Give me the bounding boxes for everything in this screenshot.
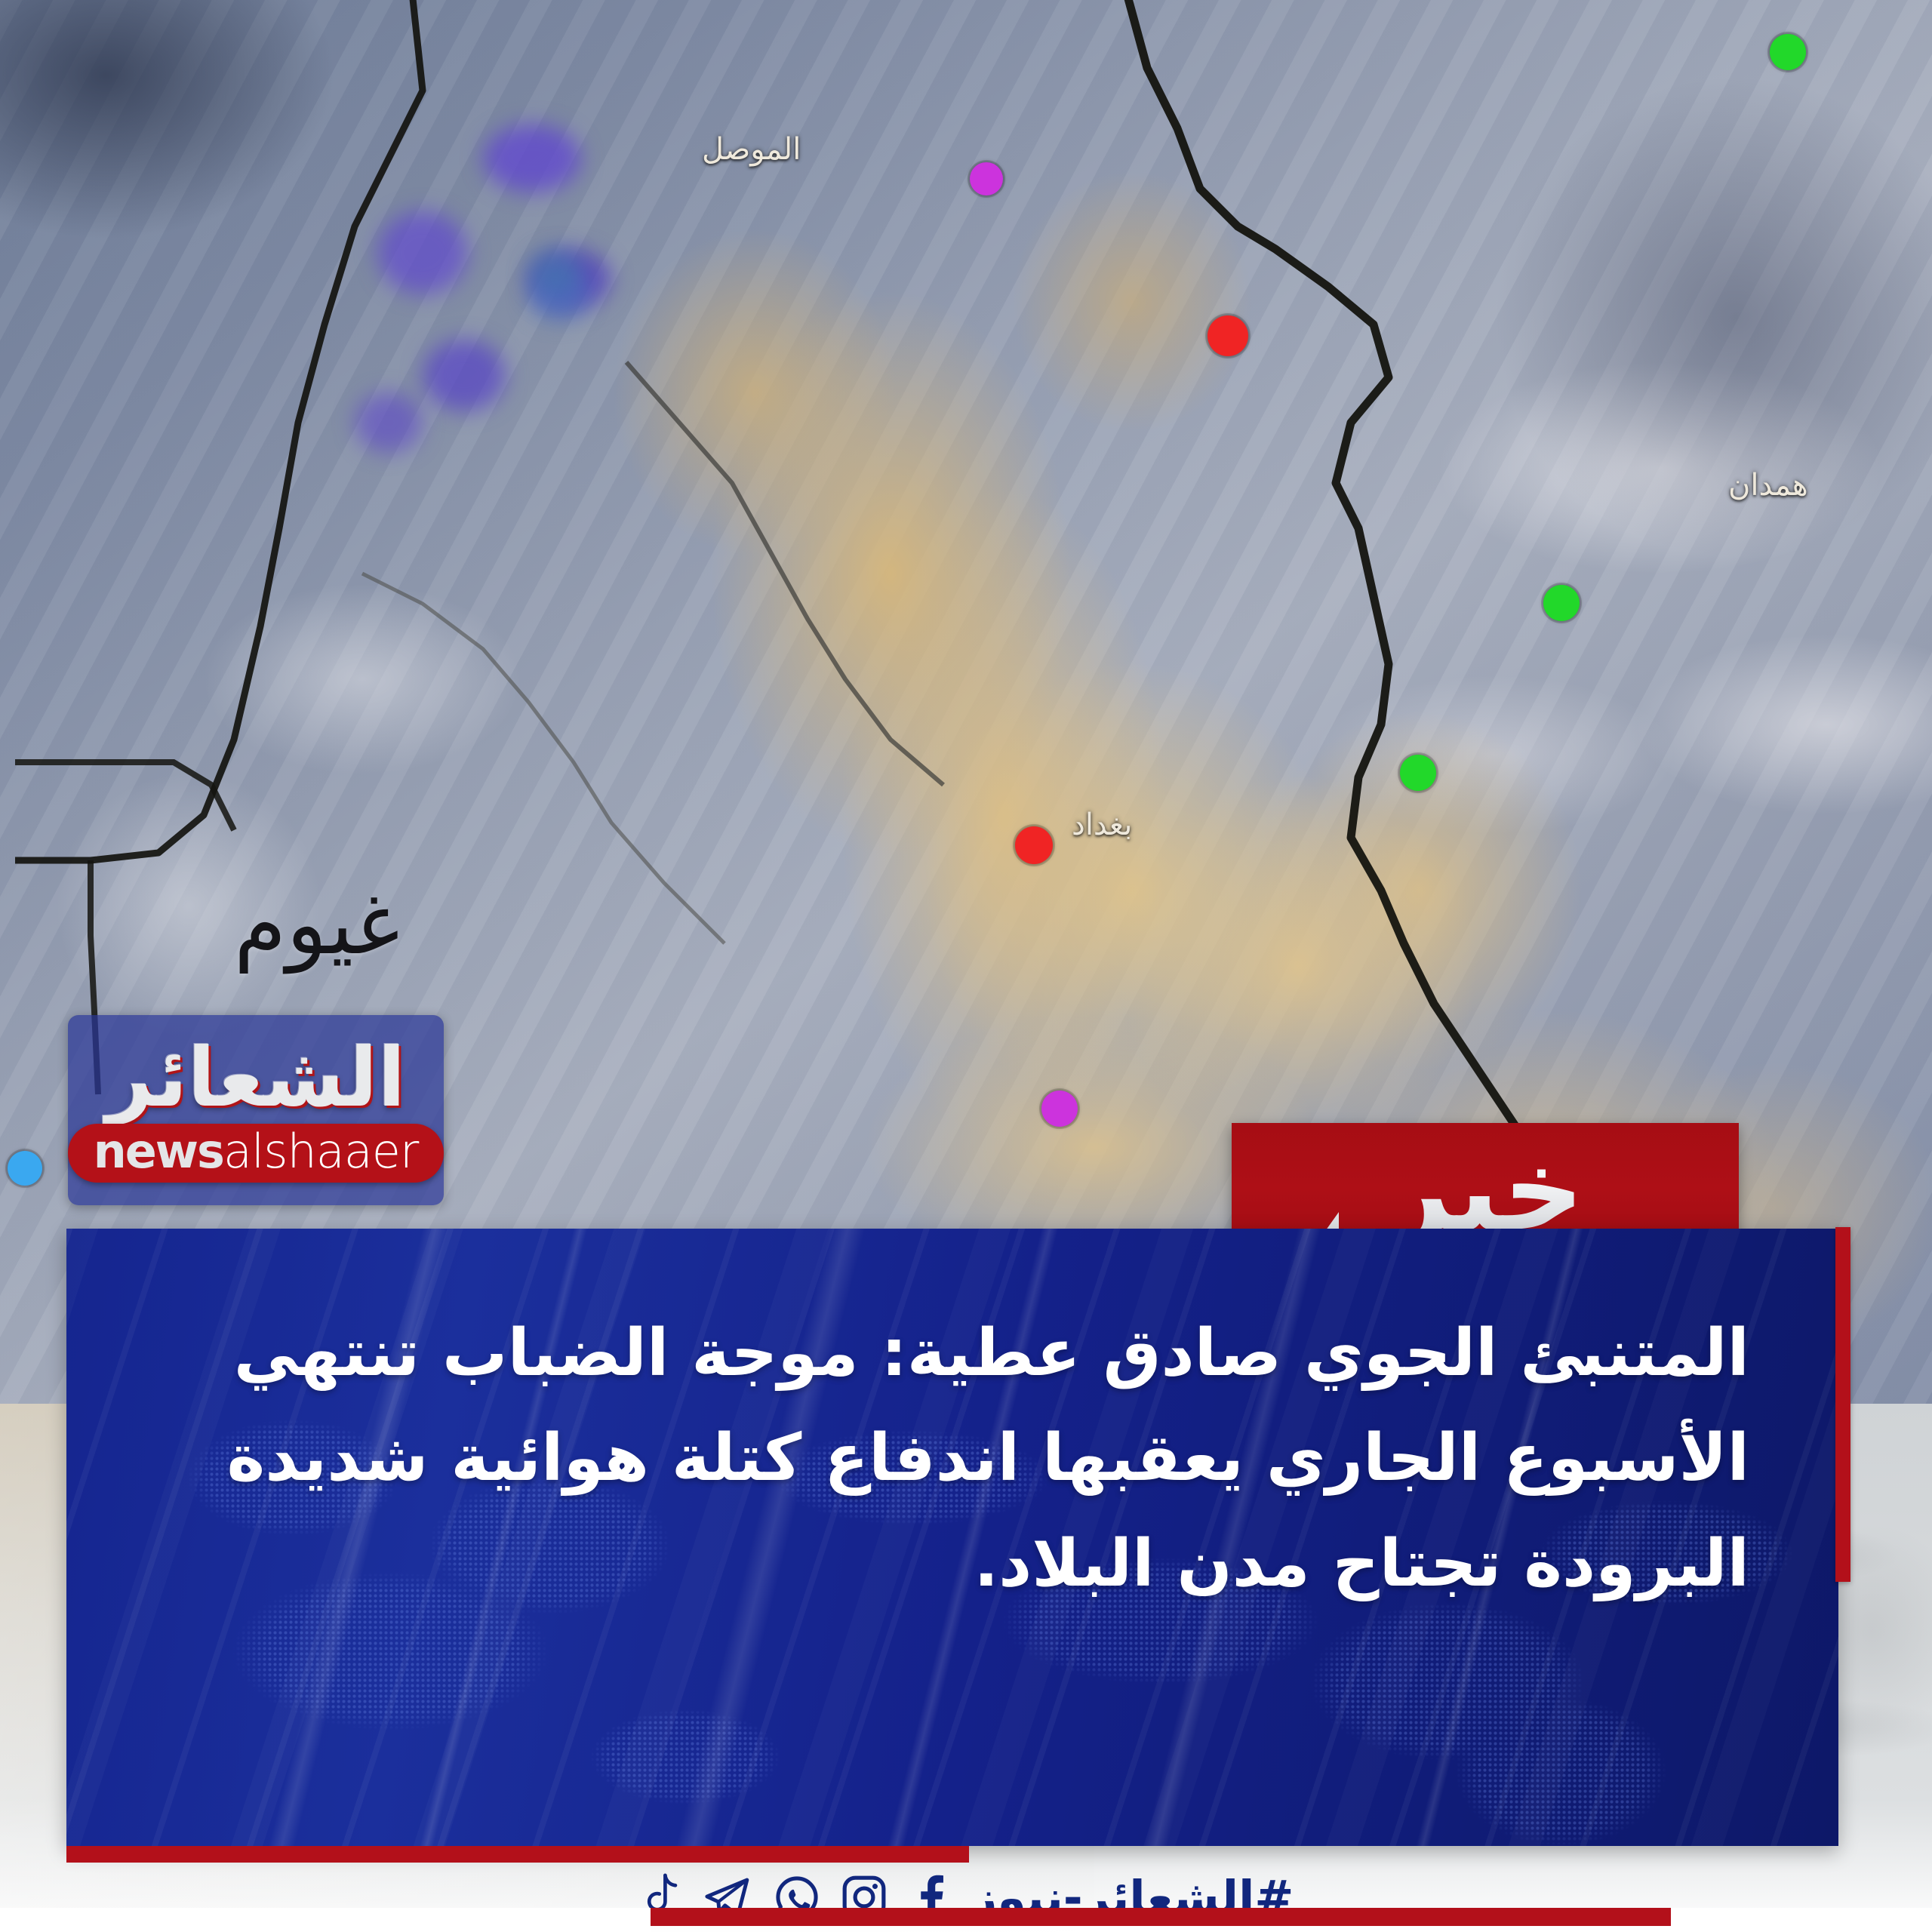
headline-line-1: المتنبئ الجوي صادق عطية: موجة الضباب تنت…: [195, 1301, 1749, 1406]
map-label: همدان: [1728, 468, 1808, 503]
headline-line-3: البرودة تجتاح مدن البلاد.: [195, 1512, 1749, 1617]
marker-baghdad: [1015, 826, 1053, 864]
marker-najaf: [1041, 1091, 1078, 1127]
logo-alshaaer-text: alshaaer: [223, 1128, 418, 1175]
footer-accent-bar: [651, 1908, 1671, 1926]
headline-line-2: الأسبوع الجاري يعقبها اندفاع كتلة هوائية…: [195, 1406, 1749, 1511]
channel-logo[interactable]: الشعائر news alshaaer: [68, 1015, 444, 1205]
headline-text: المتنبئ الجوي صادق عطية: موجة الضباب تنت…: [195, 1301, 1749, 1617]
logo-arabic-text: الشعائر: [106, 1038, 406, 1119]
logo-latin-pill: news alshaaer: [68, 1124, 445, 1183]
footer-white-left: [0, 1908, 651, 1932]
footer-white-right: [1671, 1908, 1932, 1932]
logo-news-text: news: [94, 1128, 223, 1175]
map-label: بغداد: [1072, 808, 1132, 842]
map-label: الموصل: [702, 132, 801, 167]
marker-erbil: [1207, 315, 1248, 356]
headline-panel: المتنبئ الجوي صادق عطية: موجة الضباب تنت…: [66, 1229, 1838, 1846]
panel-accent-bar-right: [1835, 1227, 1850, 1582]
marker-blue-w: [8, 1151, 42, 1186]
marker-mosul: [970, 162, 1003, 195]
marker-green-e: [1543, 585, 1580, 621]
map-label: غيوم: [234, 875, 400, 974]
marker-green-se: [1400, 755, 1436, 791]
news-graphic: الموصلهمدانبغدادغيوم الشعائر news alshaa…: [0, 0, 1932, 1932]
marker-green-ne: [1770, 34, 1806, 70]
panel-accent-bar-bottom: [66, 1846, 969, 1863]
